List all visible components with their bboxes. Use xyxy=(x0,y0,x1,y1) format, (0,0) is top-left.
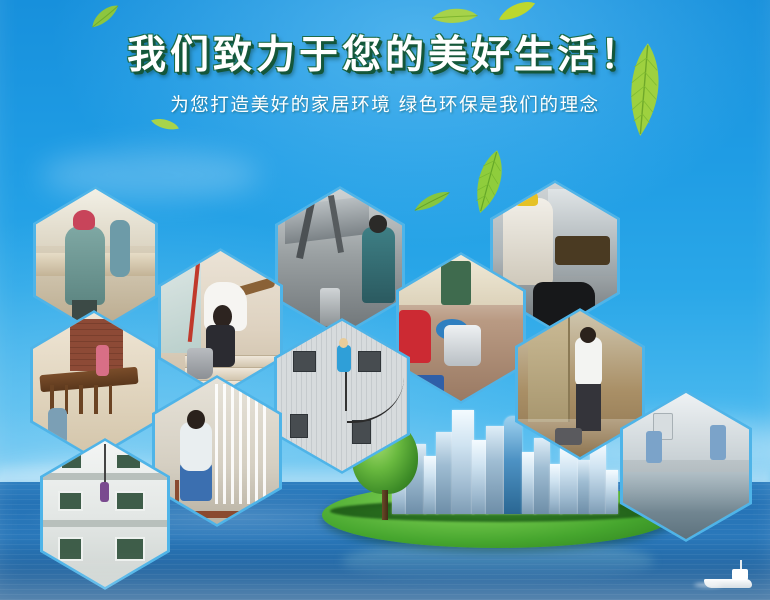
leaf-mid-small-icon xyxy=(411,188,454,213)
hex-photo-stair-mopping[interactable] xyxy=(158,248,283,396)
leaf-top-left-icon xyxy=(86,2,124,30)
tree-trunk xyxy=(382,490,388,520)
page-subtitle: 为您打造美好的家居环境 绿色环保是我们的理念 xyxy=(0,91,770,117)
headline-block: 我们致力于您的美好生活！ 为您打造美好的家居环境 绿色环保是我们的理念 xyxy=(0,34,770,117)
leaf-top-center-icon xyxy=(430,1,479,30)
boat-wake xyxy=(694,583,722,587)
hex-photo-railing-painting[interactable] xyxy=(30,310,158,460)
page-title: 我们致力于您的美好生活！ xyxy=(0,34,770,78)
hex-photo-ceiling-duct-demolition[interactable] xyxy=(275,186,405,338)
promo-banner: 我们致力于您的美好生活！ 为您打造美好的家居环境 绿色环保是我们的理念 xyxy=(0,0,770,600)
cloud-shape xyxy=(40,150,260,200)
leaf-top-right-icon xyxy=(496,0,538,23)
boat xyxy=(704,579,752,588)
boat-cabin xyxy=(732,569,748,580)
